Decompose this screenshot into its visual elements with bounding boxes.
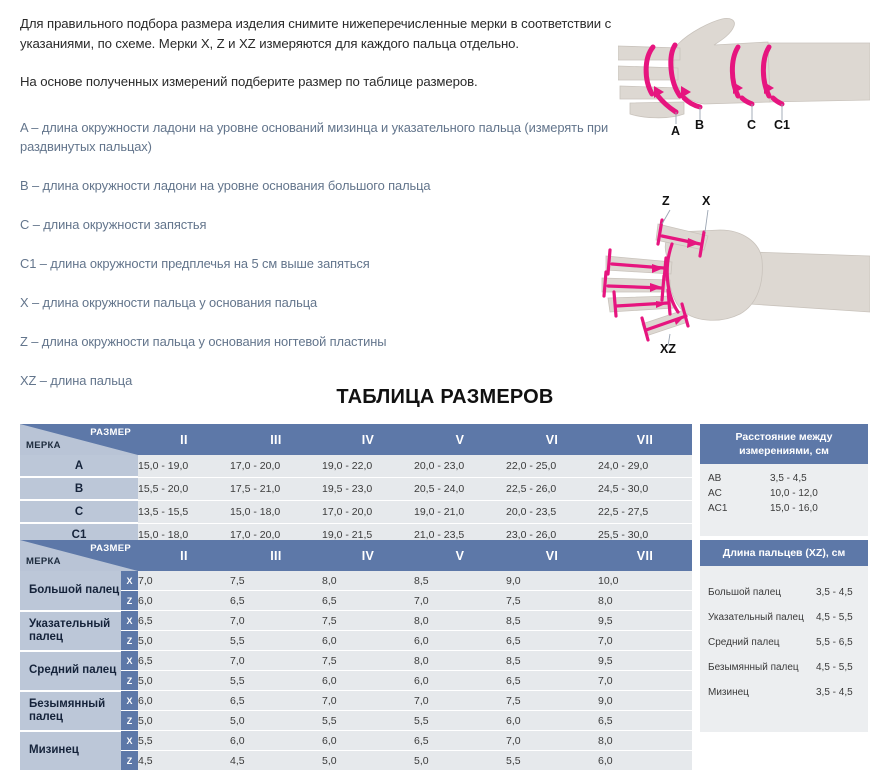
- table-row: Z 5,0 5,5 6,0 6,0 6,5 7,0: [20, 631, 692, 651]
- finger-size-table: МЕРКА РАЗМЕР II III IV V VI VII Большой …: [20, 540, 692, 772]
- side2-value: 5,5 - 6,5: [816, 630, 853, 655]
- table1-size-header-v: V: [414, 424, 506, 455]
- table2-cell: 6,0: [322, 671, 414, 691]
- table1-cell: 15,0 - 18,0: [230, 500, 322, 523]
- table2-cell: 8,0: [598, 731, 692, 751]
- table2-cell: 7,5: [506, 591, 598, 611]
- table-row: Z 6,0 6,5 6,5 7,0 7,5 8,0: [20, 591, 692, 611]
- table2-cell: 6,0: [322, 731, 414, 751]
- list-item: Указательный палец 4,5 - 5,5: [700, 605, 868, 630]
- figure-label-x: X: [702, 194, 710, 208]
- figure-label-c1: C1: [774, 118, 790, 132]
- badge-x: X: [121, 651, 138, 671]
- table2-cell: 7,0: [414, 691, 506, 711]
- table1-row-label-b: B: [20, 477, 138, 500]
- list-item: Безымянный палец 4,5 - 5,5: [700, 655, 868, 680]
- table1-cell: 19,0 - 21,0: [414, 500, 506, 523]
- hand-side-view-icon: [618, 2, 870, 147]
- table2-row-label-ring: Безымянный палец: [20, 691, 121, 731]
- table2-cell: 6,0: [138, 691, 230, 711]
- table2-cell: 5,0: [230, 711, 322, 731]
- table2-cell: 5,5: [138, 731, 230, 751]
- table2-row-label-index: Указательный палец: [20, 611, 121, 651]
- table2-cell: 6,5: [230, 591, 322, 611]
- table2-cell: 5,0: [138, 711, 230, 731]
- list-item: AC 10,0 - 12,0: [700, 486, 868, 501]
- table-row: Мизинец X 5,5 6,0 6,0 6,5 7,0 8,0: [20, 731, 692, 751]
- table1-size-header-vi: VI: [506, 424, 598, 455]
- table-row: Z 5,0 5,5 6,0 6,0 6,5 7,0: [20, 671, 692, 691]
- badge-x: X: [121, 611, 138, 631]
- side1-title: Расстояние между измерениями, см: [700, 424, 868, 464]
- measure-definition-z: Z – длина окружности пальца у основания …: [20, 332, 620, 351]
- table2-cell: 6,5: [322, 591, 414, 611]
- measure-definition-c: C – длина окружности запястья: [20, 215, 620, 234]
- corner-label-razmer: РАЗМЕР: [90, 427, 131, 438]
- badge-z: Z: [121, 751, 138, 771]
- table2-row-label-middle: Средний палец: [20, 651, 121, 691]
- table1-cell: 15,5 - 20,0: [138, 477, 230, 500]
- table2-cell: 5,0: [414, 751, 506, 771]
- badge-x: X: [121, 731, 138, 751]
- list-item: AC1 15,0 - 16,0: [700, 501, 868, 516]
- hand-side-view-diagram: A B C C1: [618, 2, 870, 147]
- badge-x: X: [121, 571, 138, 591]
- table2-cell: 8,0: [414, 611, 506, 631]
- table-row: C 13,5 - 15,5 15,0 - 18,0 17,0 - 20,0 19…: [20, 500, 692, 523]
- instructions-column: Для правильного подбора размера изделия …: [20, 14, 620, 410]
- table1-row-label-a: A: [20, 455, 138, 477]
- badge-z: Z: [121, 631, 138, 651]
- table2-size-header-vii: VII: [598, 540, 692, 571]
- table1-size-header-iv: IV: [322, 424, 414, 455]
- table2-cell: 5,0: [138, 671, 230, 691]
- list-item: Большой палец 3,5 - 4,5: [700, 580, 868, 605]
- figure-label-c: C: [747, 118, 756, 132]
- side1-key: AC1: [700, 501, 770, 516]
- side1-key: AB: [700, 471, 770, 486]
- table2-cell: 8,0: [598, 591, 692, 611]
- table1-size-header-ii: II: [138, 424, 230, 455]
- table-row: B 15,5 - 20,0 17,5 - 21,0 19,5 - 23,0 20…: [20, 477, 692, 500]
- side1-value: 10,0 - 12,0: [770, 486, 818, 501]
- table2-cell: 4,5: [138, 751, 230, 771]
- finger-length-panel: Длина пальцев (XZ), см Большой палец 3,5…: [700, 540, 868, 732]
- table2-cell: 6,5: [230, 691, 322, 711]
- table1-size-header-vii: VII: [598, 424, 692, 455]
- intro-paragraph-2: На основе полученных измерений подберите…: [20, 72, 620, 92]
- corner-label-merka: МЕРКА: [26, 556, 61, 567]
- table1-cell: 22,5 - 27,5: [598, 500, 692, 523]
- table2-cell: 8,0: [414, 651, 506, 671]
- side1-value: 15,0 - 16,0: [770, 501, 818, 516]
- table-row: Z 4,5 4,5 5,0 5,0 5,5 6,0: [20, 751, 692, 771]
- table2-cell: 6,5: [138, 611, 230, 631]
- side2-title: Длина пальцев (XZ), см: [700, 540, 868, 566]
- size-table-main: МЕРКА РАЗМЕР II III IV V VI VII A 15,0 -…: [20, 424, 692, 547]
- table-row: A 15,0 - 19,0 17,0 - 20,0 19,0 - 22,0 20…: [20, 455, 692, 477]
- table2-cell: 6,5: [414, 731, 506, 751]
- table2-cell: 6,0: [506, 711, 598, 731]
- table2-size-header-v: V: [414, 540, 506, 571]
- side2-value: 3,5 - 4,5: [816, 680, 853, 705]
- badge-z: Z: [121, 671, 138, 691]
- table1-cell: 17,0 - 20,0: [230, 455, 322, 477]
- table2-cell: 8,0: [322, 571, 414, 591]
- table1-cell: 19,0 - 22,0: [322, 455, 414, 477]
- table2-cell: 6,5: [138, 651, 230, 671]
- table2-size-header-iv: IV: [322, 540, 414, 571]
- table1-size-header-iii: III: [230, 424, 322, 455]
- table2-cell: 7,5: [322, 611, 414, 631]
- table2-cell: 6,0: [598, 751, 692, 771]
- measure-definition-b: B – длина окружности ладони на уровне ос…: [20, 176, 620, 195]
- table2-cell: 5,5: [230, 671, 322, 691]
- table1-cell: 24,0 - 29,0: [598, 455, 692, 477]
- table1-cell: 19,5 - 23,0: [322, 477, 414, 500]
- table2-cell: 5,0: [322, 751, 414, 771]
- table1-cell: 22,5 - 26,0: [506, 477, 598, 500]
- table2-cell: 7,5: [322, 651, 414, 671]
- table2-cell: 9,0: [598, 691, 692, 711]
- table2-row-label-little: Мизинец: [20, 731, 121, 771]
- table2-row-label-thumb: Большой палец: [20, 571, 121, 611]
- side1-value: 3,5 - 4,5: [770, 471, 807, 486]
- table1-header-row: МЕРКА РАЗМЕР II III IV V VI VII: [20, 424, 692, 455]
- table2-cell: 5,5: [230, 631, 322, 651]
- table2-cell: 5,5: [414, 711, 506, 731]
- table2-cell: 9,5: [598, 611, 692, 631]
- table-row: Большой палец X 7,0 7,5 8,0 8,5 9,0 10,0: [20, 571, 692, 591]
- table2-size-header-iii: III: [230, 540, 322, 571]
- side2-key: Большой палец: [700, 580, 816, 605]
- table2-cell: 7,0: [506, 731, 598, 751]
- table2-cell: 7,0: [322, 691, 414, 711]
- list-item: AB 3,5 - 4,5: [700, 471, 868, 486]
- table2-cell: 7,0: [598, 671, 692, 691]
- side2-value: 4,5 - 5,5: [816, 655, 853, 680]
- table2-cell: 6,0: [322, 631, 414, 651]
- table2-cell: 8,5: [506, 651, 598, 671]
- table1-cell: 20,0 - 23,0: [414, 455, 506, 477]
- side2-key: Мизинец: [700, 680, 816, 705]
- table2-cell: 4,5: [230, 751, 322, 771]
- table2-cell: 7,5: [506, 691, 598, 711]
- table2-cell: 6,0: [138, 591, 230, 611]
- table2-header-row: МЕРКА РАЗМЕР II III IV V VI VII: [20, 540, 692, 571]
- table2-cell: 5,5: [506, 751, 598, 771]
- table2-cell: 6,5: [506, 671, 598, 691]
- intro-paragraph-1: Для правильного подбора размера изделия …: [20, 14, 620, 54]
- measure-definition-c1: C1 – длина окружности предплечья на 5 см…: [20, 254, 620, 273]
- side2-value: 4,5 - 5,5: [816, 605, 853, 630]
- table1-cell: 17,5 - 21,0: [230, 477, 322, 500]
- table2-cell: 8,5: [414, 571, 506, 591]
- list-item: Средний палец 5,5 - 6,5: [700, 630, 868, 655]
- page-title: ТАБЛИЦА РАЗМЕРОВ: [300, 386, 590, 409]
- side1-body: AB 3,5 - 4,5 AC 10,0 - 12,0 AC1 15,0 - 1…: [700, 464, 868, 536]
- table2-cell: 9,0: [506, 571, 598, 591]
- measure-definition-x: X – длина окружности пальца у основания …: [20, 293, 620, 312]
- table2-cell: 8,5: [506, 611, 598, 631]
- table2-cell: 6,0: [414, 671, 506, 691]
- table-row: Указательный палец X 6,5 7,0 7,5 8,0 8,5…: [20, 611, 692, 631]
- table2-size-header-ii: II: [138, 540, 230, 571]
- table-row: Безымянный палец X 6,0 6,5 7,0 7,0 7,5 9…: [20, 691, 692, 711]
- table2-cell: 7,0: [598, 631, 692, 651]
- table1-cell: 13,5 - 15,5: [138, 500, 230, 523]
- table2-cell: 6,0: [414, 631, 506, 651]
- table2-cell: 5,5: [322, 711, 414, 731]
- table2-cell: 7,0: [230, 611, 322, 631]
- measure-definition-a: A – длина окружности ладони на уровне ос…: [20, 118, 620, 156]
- table2-cell: 9,5: [598, 651, 692, 671]
- badge-x: X: [121, 691, 138, 711]
- table1-cell: 17,0 - 20,0: [322, 500, 414, 523]
- figure-label-z: Z: [662, 194, 670, 208]
- side2-key: Средний палец: [700, 630, 816, 655]
- table2-cell: 6,5: [598, 711, 692, 731]
- table2-cell: 6,5: [506, 631, 598, 651]
- table2-cell: 7,5: [230, 571, 322, 591]
- side2-body: Большой палец 3,5 - 4,5 Указательный пал…: [700, 566, 868, 732]
- size-guide-page: Для правильного подбора размера изделия …: [0, 0, 870, 752]
- table-row: Средний палец X 6,5 7,0 7,5 8,0 8,5 9,5: [20, 651, 692, 671]
- side2-value: 3,5 - 4,5: [816, 580, 853, 605]
- table2-corner-cell: МЕРКА РАЗМЕР: [20, 540, 138, 571]
- distance-between-measurements-panel: Расстояние между измерениями, см AB 3,5 …: [700, 424, 868, 536]
- figure-label-b: B: [695, 118, 704, 132]
- side2-key: Безымянный палец: [700, 655, 816, 680]
- table2-cell: 5,0: [138, 631, 230, 651]
- badge-z: Z: [121, 711, 138, 731]
- table1-cell: 20,5 - 24,0: [414, 477, 506, 500]
- table1-row-label-c: C: [20, 500, 138, 523]
- table2-cell: 7,0: [230, 651, 322, 671]
- table1-cell: 15,0 - 19,0: [138, 455, 230, 477]
- badge-z: Z: [121, 591, 138, 611]
- table1-cell: 22,0 - 25,0: [506, 455, 598, 477]
- table-row: Z 5,0 5,0 5,5 5,5 6,0 6,5: [20, 711, 692, 731]
- corner-label-merka: МЕРКА: [26, 440, 61, 451]
- table1-corner-cell: МЕРКА РАЗМЕР: [20, 424, 138, 455]
- table1-cell: 24,5 - 30,0: [598, 477, 692, 500]
- side1-key: AC: [700, 486, 770, 501]
- figure-label-a: A: [671, 124, 680, 138]
- figure-label-xz: XZ: [660, 342, 676, 356]
- list-item: Мизинец 3,5 - 4,5: [700, 680, 868, 705]
- table2-size-header-vi: VI: [506, 540, 598, 571]
- table2-cell: 10,0: [598, 571, 692, 591]
- table2-cell: 7,0: [414, 591, 506, 611]
- hand-top-view-icon: [600, 182, 870, 364]
- side2-key: Указательный палец: [700, 605, 816, 630]
- table2-cell: 7,0: [138, 571, 230, 591]
- corner-label-razmer: РАЗМЕР: [90, 543, 131, 554]
- table2-cell: 6,0: [230, 731, 322, 751]
- hand-top-view-diagram: Z X XZ: [600, 182, 870, 364]
- table1-cell: 20,0 - 23,5: [506, 500, 598, 523]
